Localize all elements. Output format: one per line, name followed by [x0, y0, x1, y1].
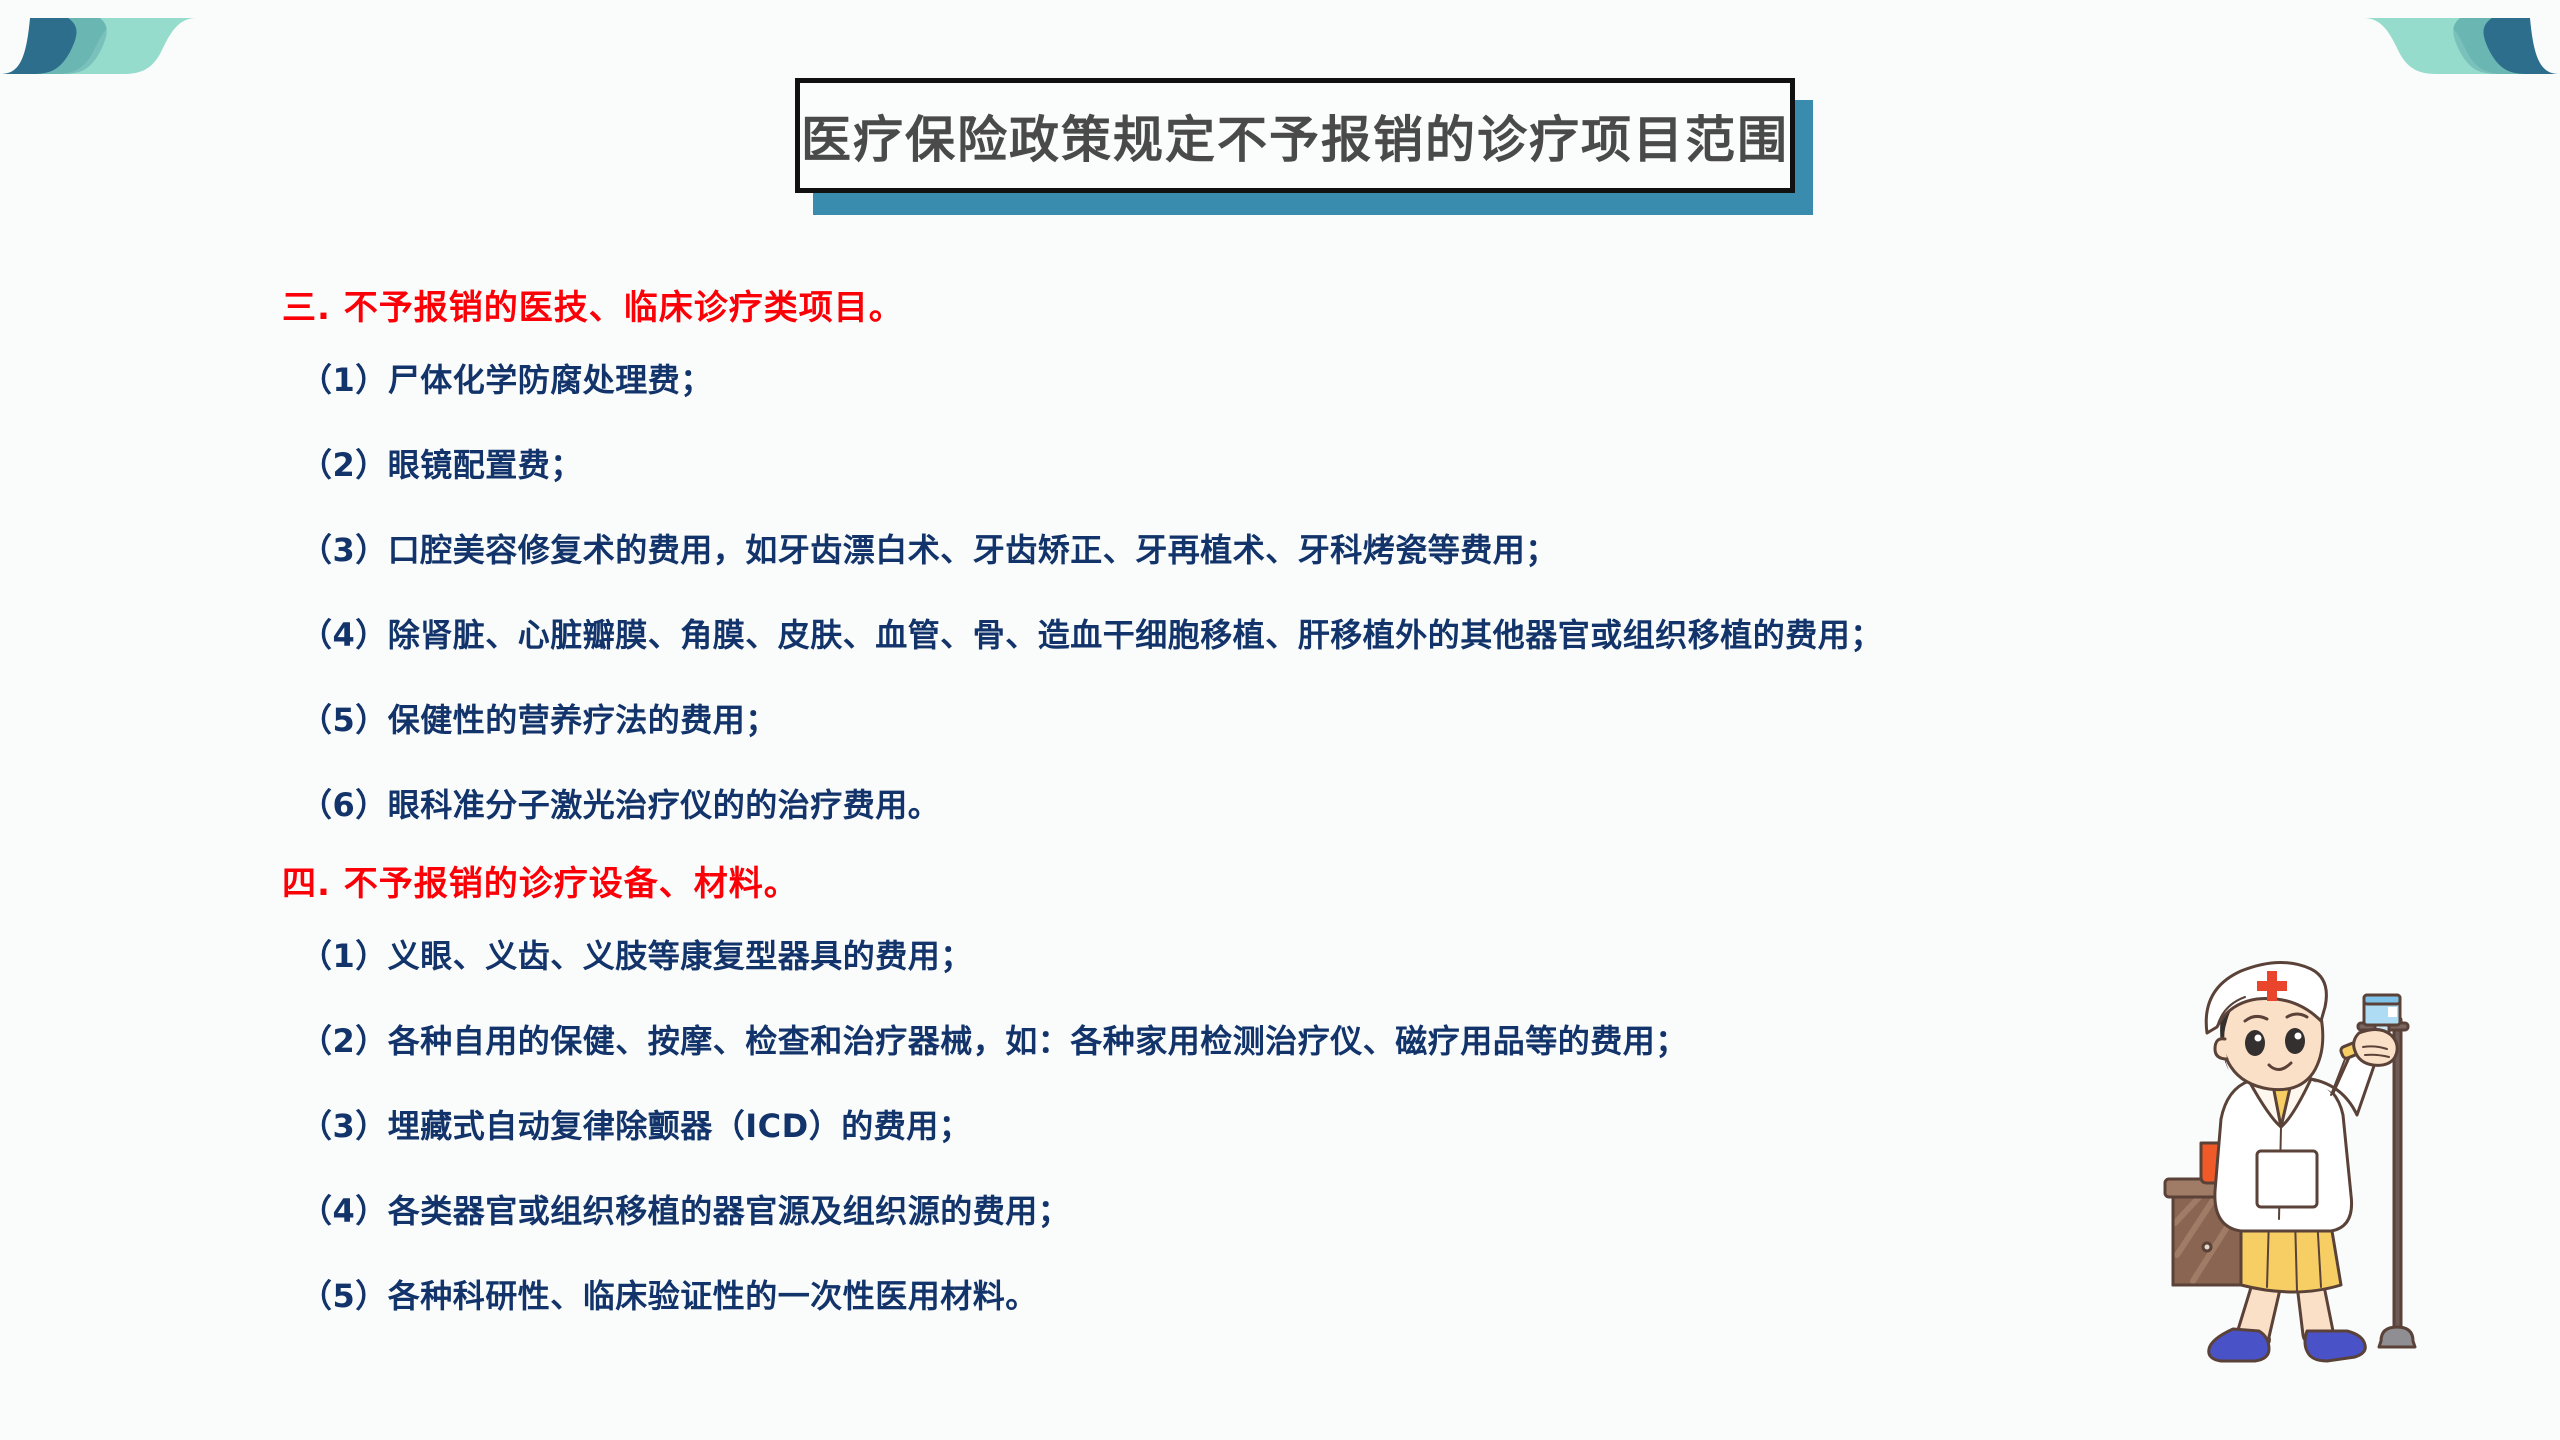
content-area: 三. 不予报销的医技、临床诊疗类项目。 （1）尸体化学防腐处理费； （2）眼镜配…	[282, 280, 2182, 1317]
head	[2215, 985, 2323, 1090]
mug-icon	[2201, 1143, 2251, 1183]
section-heading-3: 三. 不予报销的医技、临床诊疗类项目。	[282, 280, 2182, 329]
doctor-coat	[2215, 1075, 2352, 1231]
list-item: （3）口腔美容修复术的费用，如牙齿漂白术、牙齿矫正、牙再植术、牙科烤瓷等费用；	[282, 525, 2182, 571]
list-item: （4）除肾脏、心脏瓣膜、角膜、皮肤、血管、骨、造血干细胞移植、肝移植外的其他器官…	[282, 610, 2182, 656]
list-item: （2）眼镜配置费；	[282, 440, 2182, 486]
hands	[2354, 1029, 2398, 1065]
shoes-icon	[2209, 1329, 2366, 1361]
list-item: （5）保健性的营养疗法的费用；	[282, 695, 2182, 741]
list-item: （2）各种自用的保健、按摩、检查和治疗器械，如：各种家用检测治疗仪、磁疗用品等的…	[282, 1016, 2182, 1062]
skirt	[2241, 1213, 2341, 1292]
arms	[2311, 1039, 2377, 1115]
nurse-cap-icon	[2206, 962, 2326, 1033]
slide-canvas: 医疗保险政策规定不予报销的诊疗项目范围 三. 不予报销的医技、临床诊疗类项目。 …	[0, 0, 2560, 1440]
page-title: 医疗保险政策规定不予报销的诊疗项目范围	[801, 100, 1789, 172]
section-4-list: （1）义眼、义齿、义肢等康复型器具的费用； （2）各种自用的保健、按摩、检查和治…	[282, 931, 2182, 1317]
list-item: （5）各种科研性、临床验证性的一次性医用材料。	[282, 1271, 2182, 1317]
list-item: （4）各类器官或组织移植的器官源及组织源的费用；	[282, 1186, 2182, 1232]
slide-title-block: 医疗保险政策规定不予报销的诊疗项目范围	[795, 78, 1795, 193]
ribbon-swoosh-icon	[2330, 0, 2560, 90]
ribbon-swoosh-icon	[0, 0, 230, 90]
list-item: （6）眼科准分子激光治疗仪的的治疗费用。	[282, 780, 2182, 826]
iv-stand-icon	[2358, 1017, 2415, 1347]
section-heading-4: 四. 不予报销的诊疗设备、材料。	[282, 856, 2182, 905]
title-box: 医疗保险政策规定不予报销的诊疗项目范围	[795, 78, 1795, 193]
nurse-iv-drip-illustration	[2145, 955, 2435, 1365]
legs	[2237, 1281, 2334, 1345]
section-3-list: （1）尸体化学防腐处理费； （2）眼镜配置费； （3）口腔美容修复术的费用，如牙…	[282, 355, 2182, 826]
list-item: （3）埋藏式自动复律除颤器（ICD）的费用；	[282, 1101, 2182, 1147]
iv-bottle-icon	[2364, 995, 2400, 1063]
list-item: （1）义眼、义齿、义肢等康复型器具的费用；	[282, 931, 2182, 977]
list-item: （1）尸体化学防腐处理费；	[282, 355, 2182, 401]
